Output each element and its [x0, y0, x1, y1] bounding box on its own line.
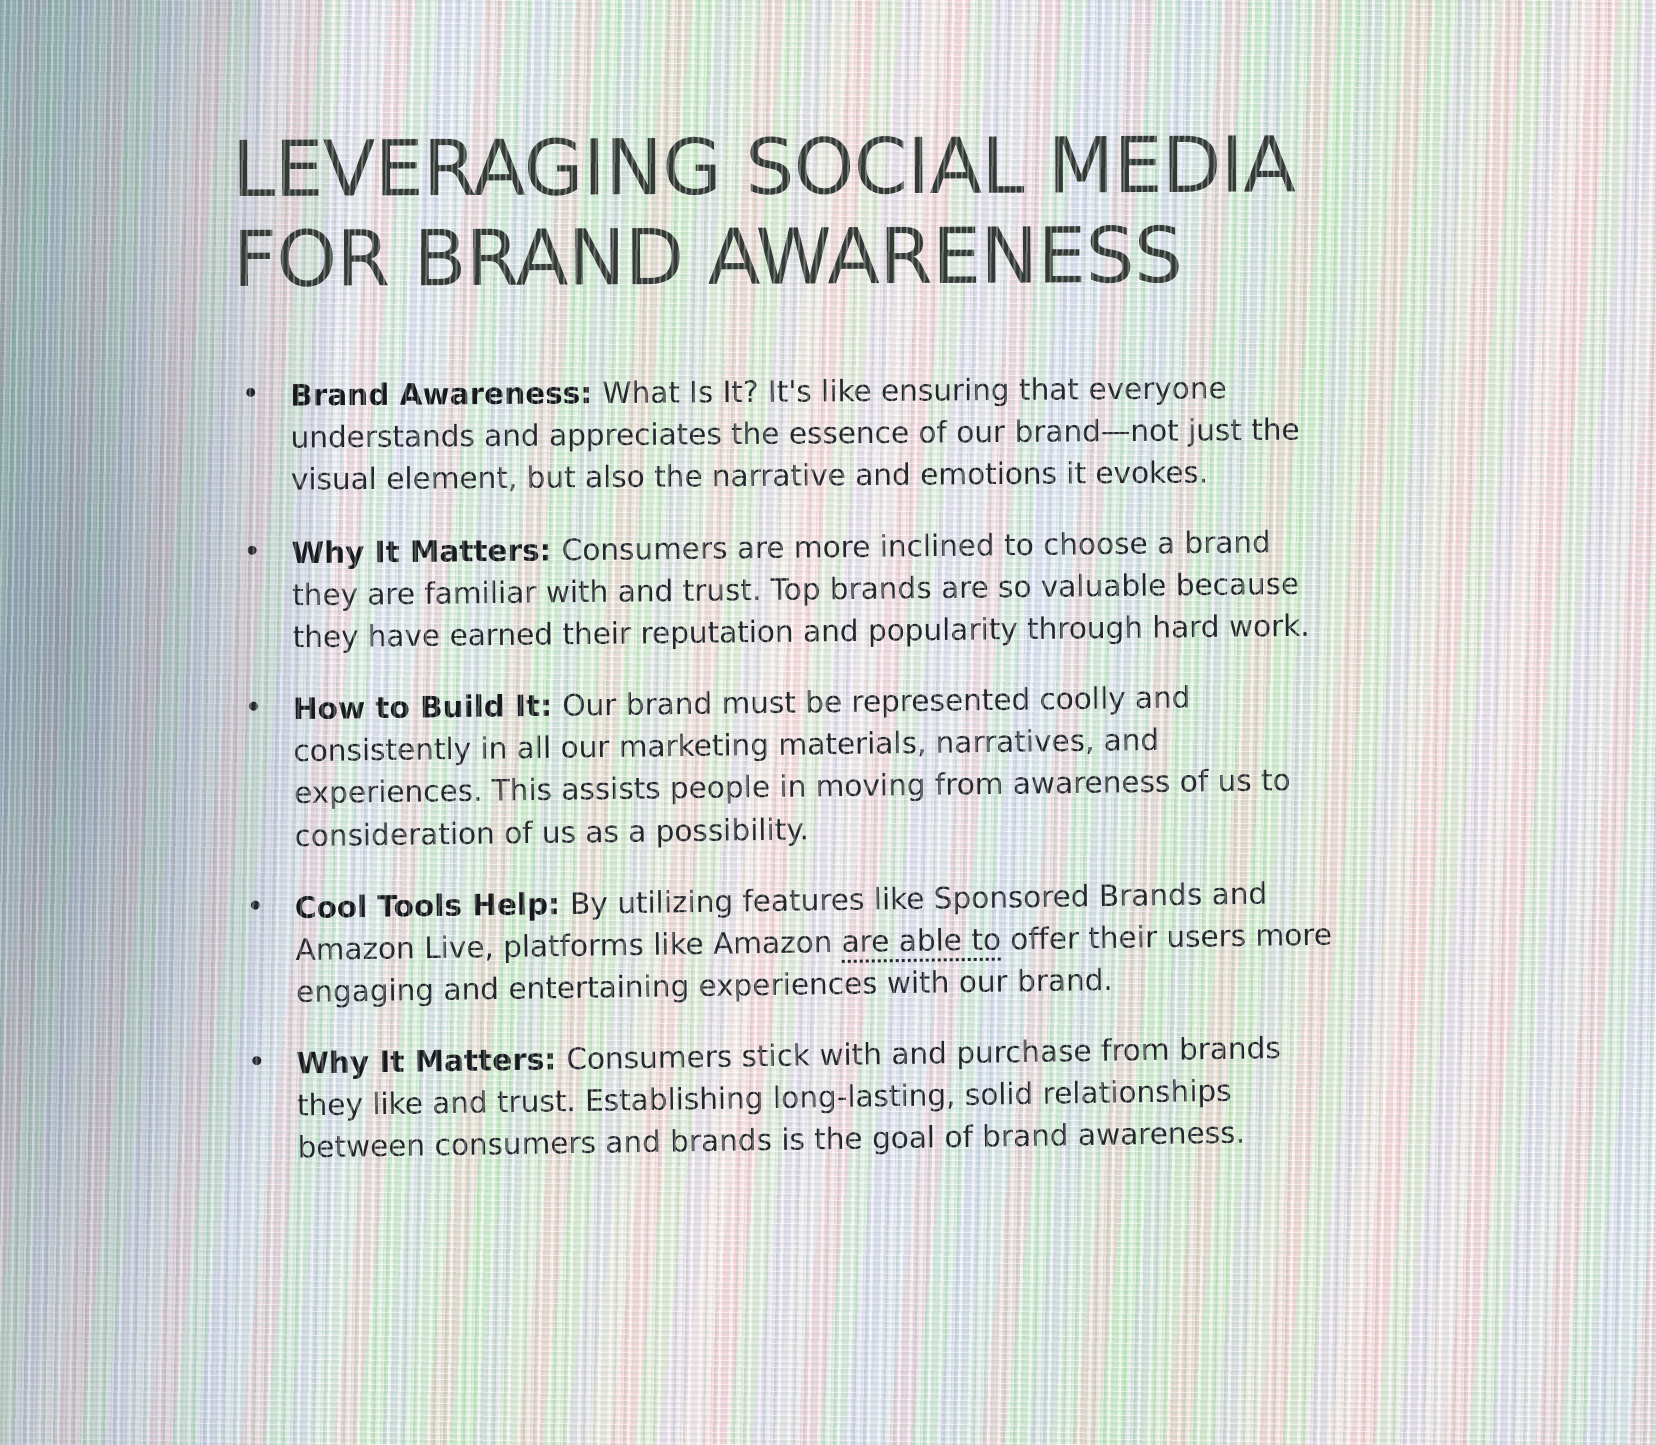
bullet-body-underlined-phrase: are able to [841, 922, 1001, 962]
slide-title: LEVERAGING SOCIAL MEDIA FOR BRAND AWAREN… [232, 121, 1353, 306]
bullet-separator: : [548, 887, 571, 921]
bullet-lead-label: Why It Matters [296, 1043, 544, 1081]
bullet-list: Brand Awareness: What Is It? It's like e… [232, 365, 1350, 1195]
bullet-lead-label: Why It Matters [291, 533, 539, 570]
bullet-separator: : [544, 1042, 567, 1076]
bullet-lead-label: How to Build It [293, 689, 541, 726]
bullet-lead-label: Brand Awareness [290, 376, 580, 412]
bullet-marker-icon [246, 388, 255, 397]
bullet-marker-icon [251, 900, 260, 909]
bullet-marker-icon [249, 702, 258, 711]
bullet-item-how-to-build-it: How to Build It: Our brand must be repre… [235, 674, 1347, 857]
bullet-item-cool-tools-help: Cool Tools Help: By utilizing features l… [237, 871, 1349, 1014]
slide-photo: LEVERAGING SOCIAL MEDIA FOR BRAND AWAREN… [0, 0, 1656, 1445]
bullet-item-why-it-matters-2: Why It Matters: Consumers stick with and… [238, 1026, 1350, 1170]
bullet-separator: : [539, 533, 561, 567]
bullet-marker-icon [252, 1056, 261, 1065]
bullet-item-why-it-matters-1: Why It Matters: Consumers are more incli… [233, 520, 1344, 659]
bullet-marker-icon [248, 545, 257, 554]
bullet-lead-label: Cool Tools Help [295, 887, 549, 925]
bullet-separator: : [580, 376, 602, 410]
bullet-separator: : [540, 689, 563, 723]
bullet-item-brand-awareness: Brand Awareness: What Is It? It's like e… [232, 366, 1343, 501]
slide-content: LEVERAGING SOCIAL MEDIA FOR BRAND AWAREN… [0, 0, 1656, 1445]
